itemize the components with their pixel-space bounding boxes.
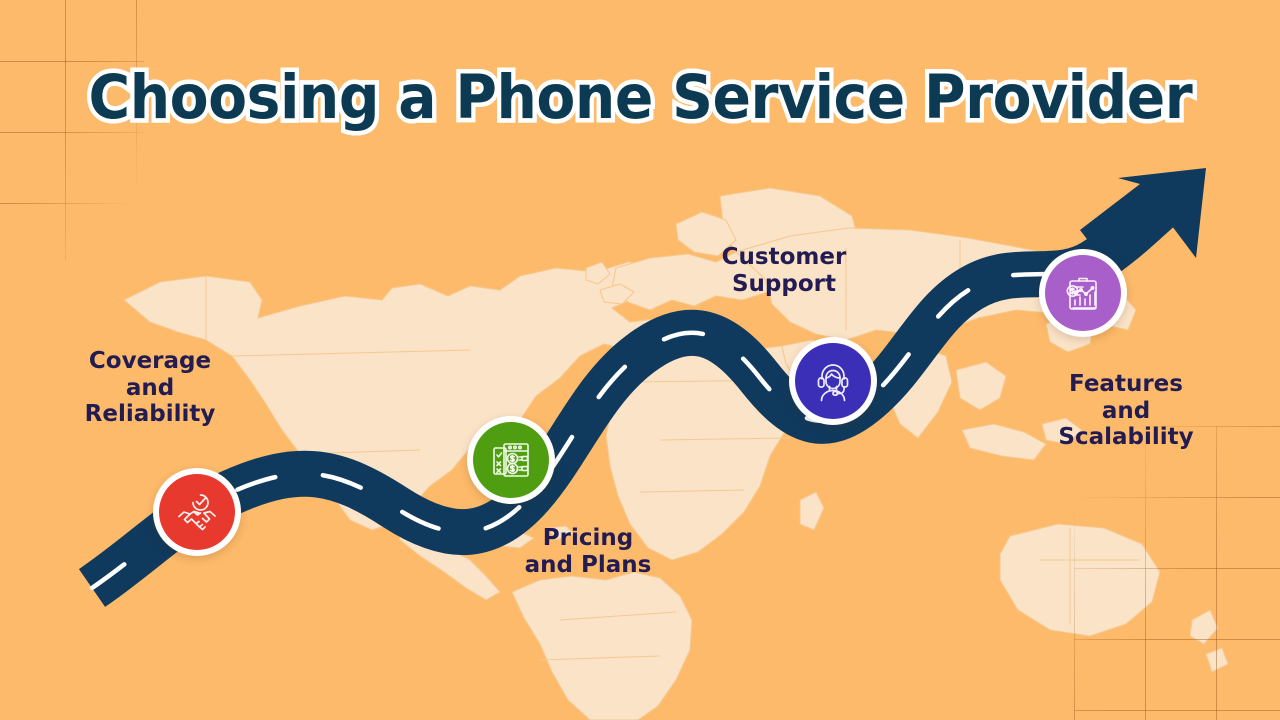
milestone-disc-inner-coverage [159, 474, 235, 550]
handshake-check-icon [173, 488, 221, 536]
clipboard-chart-dollar-icon [1059, 269, 1107, 317]
milestone-label-pricing: Pricing and Plans [480, 525, 696, 578]
milestone-disc-inner-support [795, 343, 871, 419]
milestone-disc-inner-features [1045, 255, 1121, 331]
milestone-label-features: Features and Scalability [1018, 371, 1234, 451]
infographic-canvas: Choosing a Phone Service Provider [0, 0, 1280, 720]
milestone-node-features[interactable] [1039, 249, 1127, 337]
grid-pattern-bottom-right [1074, 426, 1280, 720]
milestone-disc-features [1039, 249, 1127, 337]
milestone-node-support[interactable] [789, 337, 877, 425]
milestone-disc-coverage [153, 468, 241, 556]
milestone-disc-support [789, 337, 877, 425]
page-title: Choosing a Phone Service Provider [88, 62, 1192, 133]
milestone-node-pricing[interactable] [467, 416, 555, 504]
milestone-disc-pricing [467, 416, 555, 504]
milestone-label-coverage: Coverage and Reliability [40, 348, 260, 428]
milestone-disc-inner-pricing [473, 422, 549, 498]
title-container: Choosing a Phone Service Provider [0, 62, 1280, 133]
headset-agent-icon [809, 357, 857, 405]
milestone-node-coverage[interactable] [153, 468, 241, 556]
price-plan-comparison-icon [487, 436, 535, 484]
milestone-label-support: Customer Support [676, 244, 892, 297]
